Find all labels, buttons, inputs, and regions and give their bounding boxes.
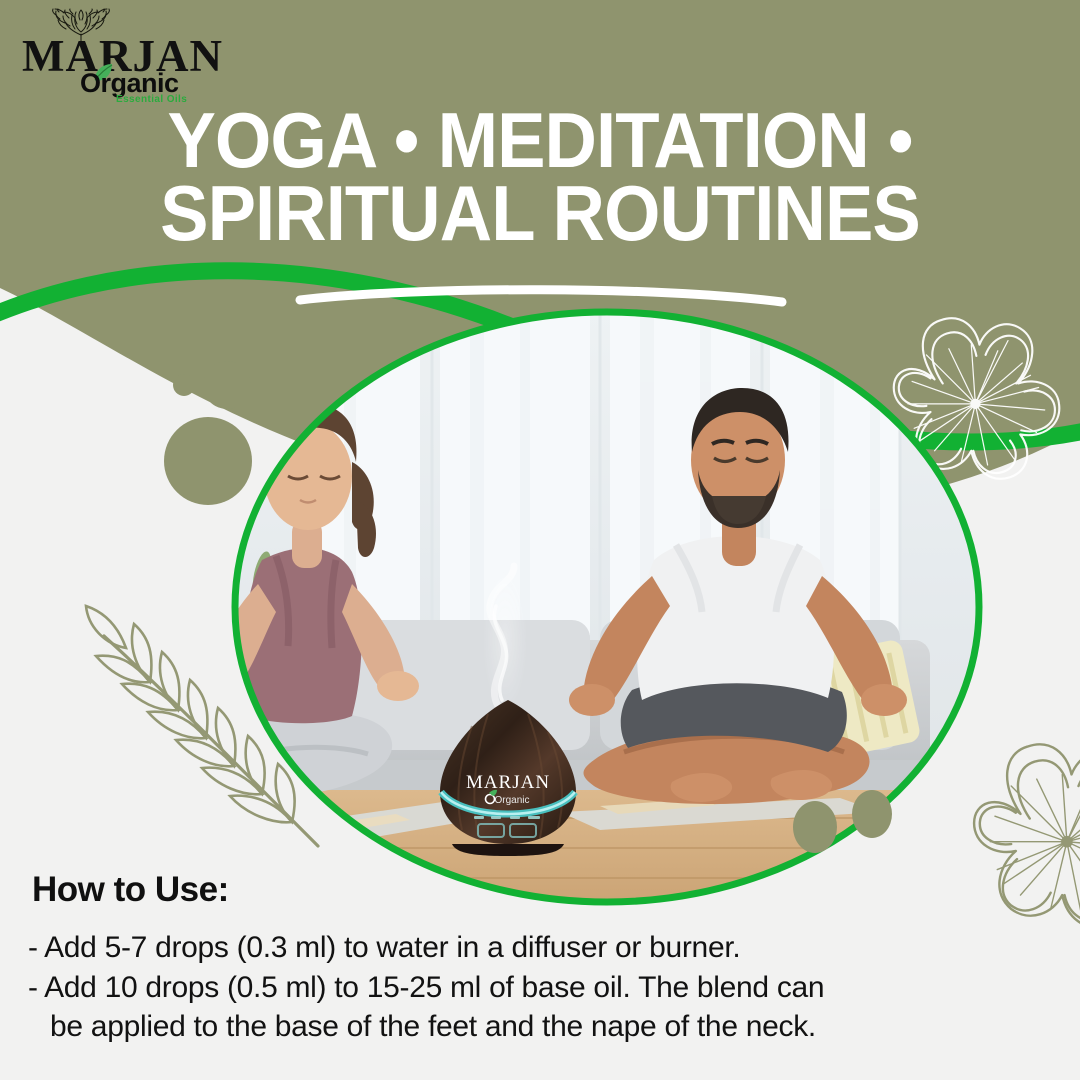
poster-canvas: MARJAN Organic [0, 0, 1080, 1080]
howto-heading: How to Use: [32, 872, 229, 907]
organic-text: Organic [80, 70, 179, 97]
usage-line-3: be applied to the base of the feet and t… [28, 1007, 1018, 1047]
page-title: YOGA • MEDITATION • SPIRITUAL ROUTINES [0, 104, 1080, 249]
organic-lockup: Organic Essential Oils [80, 70, 210, 104]
usage-instructions: - Add 5-7 drops (0.3 ml) to water in a d… [28, 928, 1018, 1047]
usage-line-1: - Add 5-7 drops (0.3 ml) to water in a d… [28, 928, 1018, 968]
headline-line-1: YOGA • MEDITATION • [38, 104, 1042, 177]
brand-tagline: Essential Oils [116, 95, 187, 105]
brand-logo: MARJAN Organic Essential Oils [22, 8, 232, 104]
usage-line-2: - Add 10 drops (0.5 ml) to 15-25 ml of b… [28, 968, 1018, 1008]
headline-line-2: SPIRITUAL ROUTINES [38, 177, 1042, 250]
